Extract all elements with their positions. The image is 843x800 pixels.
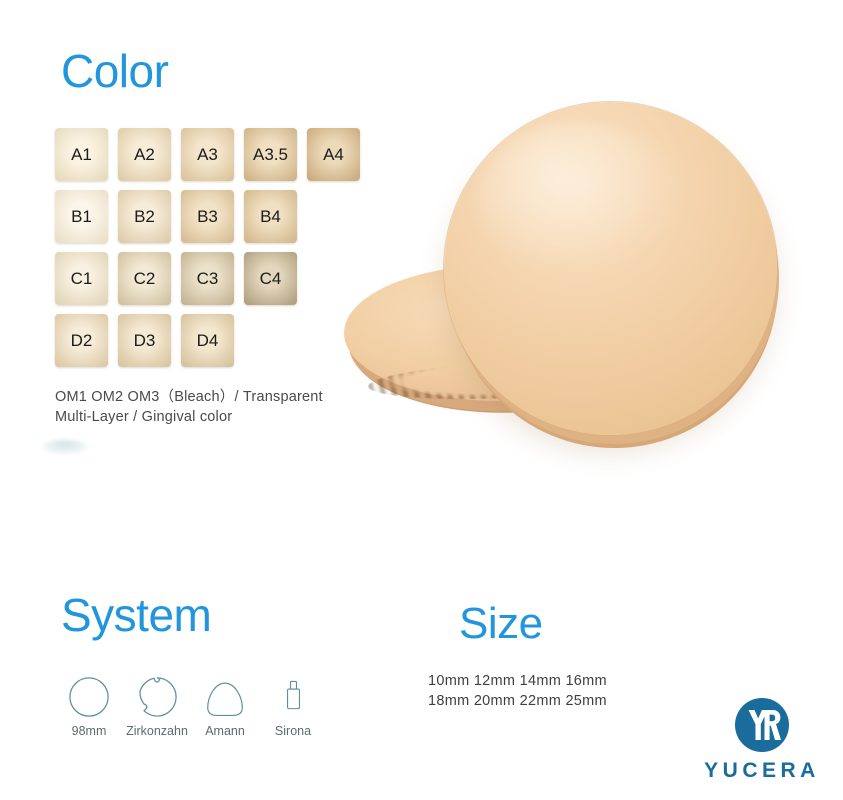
color-swatch-c1[interactable]: C1 (55, 252, 108, 305)
system-item-label: Amann (205, 724, 245, 738)
yr-monogram-icon (734, 697, 790, 753)
color-swatch-b1[interactable]: B1 (55, 190, 108, 243)
swatch-label: B2 (134, 208, 155, 225)
size-section-heading: Size (459, 602, 543, 646)
product-disc-illustration (336, 100, 806, 450)
system-item-sirona[interactable]: Sirona (262, 670, 324, 738)
swatch-label: C3 (197, 270, 219, 287)
color-swatch-a3[interactable]: A3 (181, 128, 234, 181)
swatch-label: A3.5 (253, 146, 288, 163)
color-section-heading: Color (61, 48, 168, 94)
color-swatch-b3[interactable]: B3 (181, 190, 234, 243)
color-swatch-c4[interactable]: C4 (244, 252, 297, 305)
swatch-label: A2 (134, 146, 155, 163)
color-swatch-b4[interactable]: B4 (244, 190, 297, 243)
swatch-label: B1 (71, 208, 92, 225)
color-swatch-c2[interactable]: C2 (118, 252, 171, 305)
system-section-heading: System (61, 592, 211, 638)
color-swatch-a2[interactable]: A2 (118, 128, 171, 181)
system-item-label: 98mm (72, 724, 107, 738)
color-note-line-2: Multi-Layer / Gingival color (55, 409, 232, 425)
brand-name-text: YUCERA (704, 759, 820, 783)
system-item-label: Zirkonzahn (126, 724, 188, 738)
swatch-label: A1 (71, 146, 92, 163)
circle-disc-icon (68, 670, 110, 718)
color-swatch-a3-5[interactable]: A3.5 (244, 128, 297, 181)
dome-blank-icon (205, 670, 245, 718)
color-swatch-c3[interactable]: C3 (181, 252, 234, 305)
color-swatch-b2[interactable]: B2 (118, 190, 171, 243)
system-item-98mm[interactable]: 98mm (58, 670, 120, 738)
swatch-label: A3 (197, 146, 218, 163)
swatch-label: D2 (71, 332, 93, 349)
swatch-label: C1 (71, 270, 93, 287)
zirconia-disc-front (444, 102, 777, 435)
disc-highlight (477, 122, 683, 275)
color-swatch-d4[interactable]: D4 (181, 314, 234, 367)
swatch-label: B4 (260, 208, 281, 225)
system-item-amann[interactable]: Amann (194, 670, 256, 738)
notched-disc-icon (136, 670, 178, 718)
system-icon-list: 98mmZirkonzahnAmannSirona (58, 670, 324, 738)
swatch-label: C4 (260, 270, 282, 287)
color-note-line-1: OM1 OM2 OM3（Bleach）/ Transparent (55, 385, 323, 406)
block-icon (285, 670, 302, 718)
system-item-label: Sirona (275, 724, 311, 738)
swatch-label: A4 (323, 146, 344, 163)
size-line-2: 18mm 20mm 22mm 25mm (428, 693, 607, 709)
color-swatch-a1[interactable]: A1 (55, 128, 108, 181)
swatch-label: D3 (134, 332, 156, 349)
swatch-label: B3 (197, 208, 218, 225)
color-swatch-d2[interactable]: D2 (55, 314, 108, 367)
background-artifact (42, 440, 88, 454)
system-item-zirkonzahn[interactable]: Zirkonzahn (126, 670, 188, 738)
swatch-label: D4 (197, 332, 219, 349)
color-swatch-d3[interactable]: D3 (118, 314, 171, 367)
brand-logo: YUCERA (702, 697, 822, 783)
size-line-1: 10mm 12mm 14mm 16mm (428, 673, 607, 689)
swatch-label: C2 (134, 270, 156, 287)
